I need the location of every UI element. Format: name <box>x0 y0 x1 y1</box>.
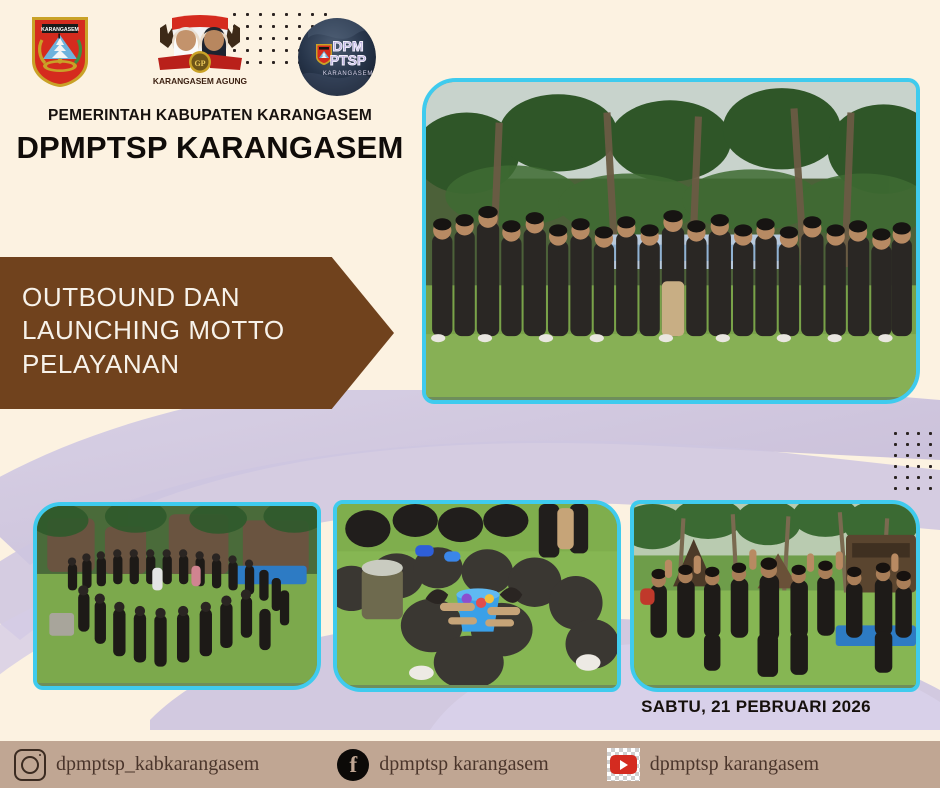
facebook-icon[interactable]: f <box>337 749 369 781</box>
social-youtube[interactable]: dpmptsp karangasem <box>607 748 819 781</box>
banner-line-1: OUTBOUND DAN <box>22 281 342 314</box>
svg-text:PTSP: PTSP <box>330 52 367 68</box>
social-footer-bar: dpmptsp_kabkarangasem f dpmptsp karangas… <box>0 741 940 788</box>
page-title: DPMPTSP KARANGASEM <box>0 130 420 166</box>
youtube-handle: dpmptsp karangasem <box>650 753 819 776</box>
photo-clapping-activity <box>630 500 920 692</box>
youtube-icon[interactable] <box>607 748 640 781</box>
dot-grid-right <box>890 428 936 494</box>
instagram-icon[interactable] <box>14 749 46 781</box>
poster-canvas: KARANGASEM <box>0 0 940 788</box>
government-subtitle: PEMERINTAH KABUPATEN KARANGASEM <box>0 107 420 125</box>
social-instagram[interactable]: dpmptsp_kabkarangasem <box>14 749 259 781</box>
instagram-handle: dpmptsp_kabkarangasem <box>56 753 259 776</box>
facebook-handle: dpmptsp karangasem <box>379 753 548 776</box>
banner-line-3: PELAYANAN <box>22 348 342 381</box>
svg-text:KARANGASEM: KARANGASEM <box>41 27 79 33</box>
karangasem-agung-logo-icon: GP KARANGASEM AGUNG <box>150 14 250 90</box>
photo-circle-formation <box>33 502 321 690</box>
banner-text: OUTBOUND DAN LAUNCHING MOTTO PELAYANAN <box>22 281 342 381</box>
svg-text:KARANGASEM: KARANGASEM <box>323 71 373 77</box>
banner-line-2: LAUNCHING MOTTO <box>22 314 342 347</box>
event-date: SABTU, 21 PEBRUARI 2026 <box>600 697 912 717</box>
svg-text:GP: GP <box>194 59 205 68</box>
photo-bucket-game <box>333 500 621 692</box>
group-photo-main <box>422 78 920 404</box>
event-title-banner: OUTBOUND DAN LAUNCHING MOTTO PELAYANAN <box>0 257 394 409</box>
svg-text:KARANGASEM AGUNG: KARANGASEM AGUNG <box>153 76 247 86</box>
kabupaten-karangasem-crest-icon: KARANGASEM <box>29 14 91 90</box>
social-facebook[interactable]: f dpmptsp karangasem <box>337 749 548 781</box>
dpmptsp-karangasem-badge-icon: DPM PTSP KARANGASEM <box>298 18 376 96</box>
